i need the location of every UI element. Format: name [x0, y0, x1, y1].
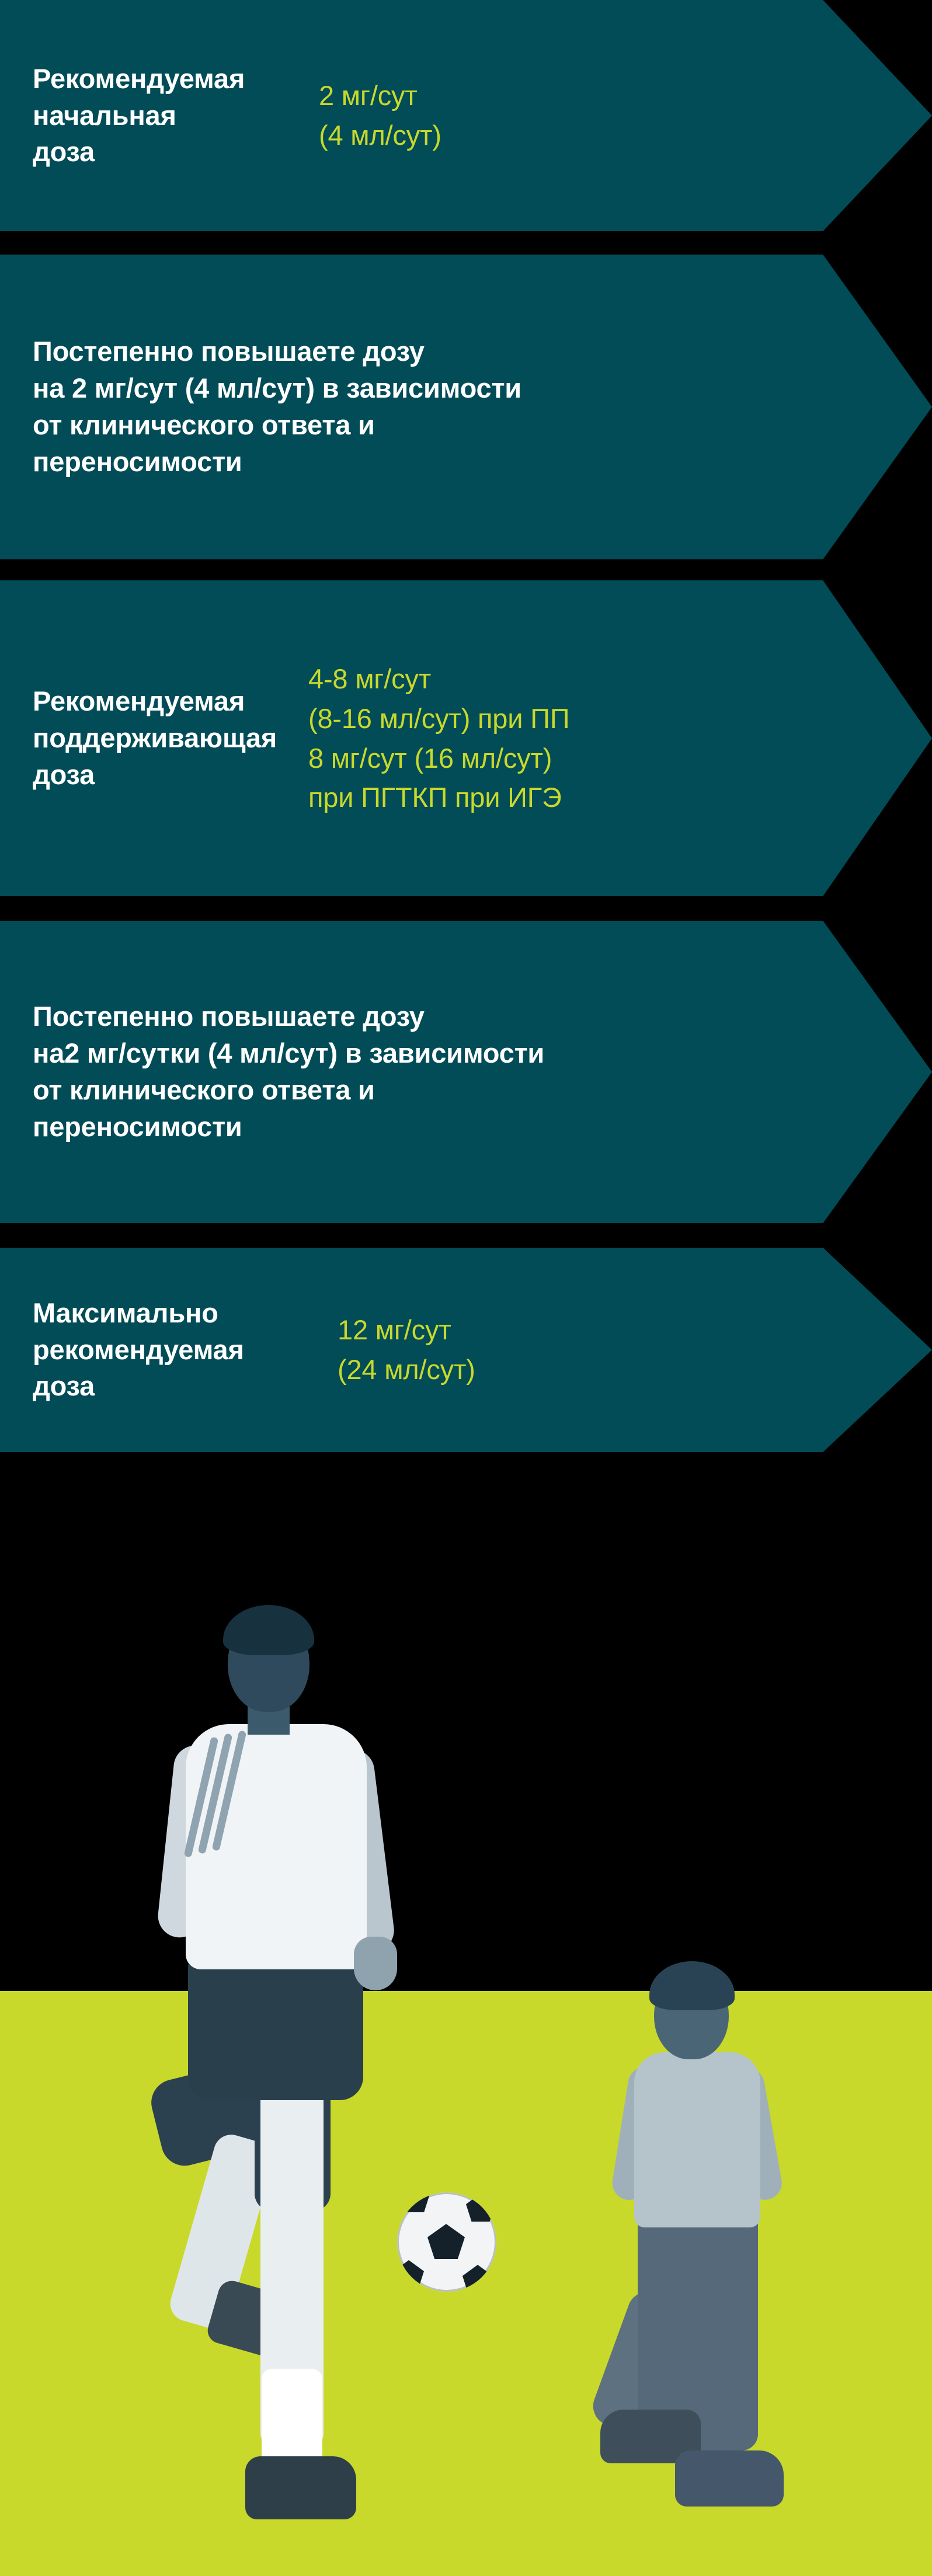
banner-maintenance-dose: Рекомендуемая поддерживающая доза 4-8 мг…	[0, 580, 932, 896]
banner-titration-step-1: Постепенно повышаете дозу на 2 мг/сут (4…	[0, 255, 932, 559]
banner-label-titration-step-2: Постепенно повышаете дозу на2 мг/сутки (…	[33, 998, 932, 1146]
child-hair	[649, 1961, 735, 2010]
banner-label-maintenance-dose: Рекомендуемая поддерживающая доза	[33, 683, 243, 793]
banner-label-titration-step-1: Постепенно повышаете дозу на 2 мг/сут (4…	[33, 333, 932, 481]
banner-value-starting-dose: 2 мг/сут (4 мл/сут)	[243, 76, 932, 155]
child-football-player	[584, 1966, 829, 2573]
adult-shorts	[188, 1954, 363, 2100]
dosing-infographic-page: Рекомендуемая начальная доза 2 мг/сут (4…	[0, 0, 932, 2576]
banner-titration-step-2: Постепенно повышаете дозу на2 мг/сутки (…	[0, 921, 932, 1223]
banner-content: Рекомендуемая поддерживающая доза 4-8 мг…	[0, 659, 932, 817]
banner-label-starting-dose: Рекомендуемая начальная доза	[33, 61, 243, 171]
banner-value-maximum-dose: 12 мг/сут (24 мл/сут)	[284, 1310, 932, 1389]
ball-outline	[397, 2192, 496, 2292]
banner-value-maintenance-dose: 4-8 мг/сут (8-16 мл/сут) при ПП 8 мг/сут…	[243, 659, 932, 817]
adult-right-hand	[354, 1937, 397, 1990]
soccer-ball	[397, 2192, 496, 2292]
banner-starting-dose: Рекомендуемая начальная доза 2 мг/сут (4…	[0, 0, 932, 231]
adult-sock	[262, 2369, 322, 2468]
banner-content: Постепенно повышаете дозу на2 мг/сутки (…	[0, 998, 932, 1146]
adult-hair	[223, 1605, 314, 1655]
banner-content: Рекомендуемая начальная доза 2 мг/сут (4…	[0, 61, 932, 171]
adult-football-player	[123, 1610, 450, 2556]
football-photo	[0, 1452, 932, 2576]
child-torso	[634, 2052, 760, 2227]
banner-content: Максимально рекомендуемая доза 12 мг/сут…	[0, 1295, 932, 1405]
banner-maximum-dose: Максимально рекомендуемая доза 12 мг/сут…	[0, 1248, 932, 1452]
child-right-shoe	[675, 2450, 784, 2507]
banner-content: Постепенно повышаете дозу на 2 мг/сут (4…	[0, 333, 932, 481]
adult-boot	[245, 2456, 356, 2519]
banner-label-maximum-dose: Максимально рекомендуемая доза	[33, 1295, 284, 1405]
